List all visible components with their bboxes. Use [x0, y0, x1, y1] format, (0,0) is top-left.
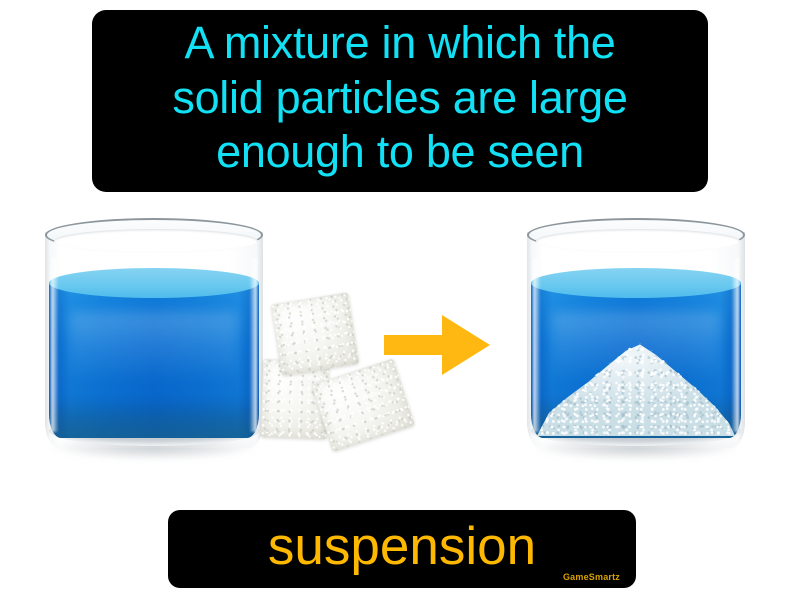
left-liquid-sheen — [70, 312, 238, 381]
left-glass-highlight-left — [51, 258, 58, 432]
right-beaker-rim — [527, 218, 745, 252]
watermark-label: GameSmartz — [563, 572, 620, 582]
right-arrow-icon — [384, 314, 490, 376]
right-glass-highlight-left — [533, 258, 540, 432]
left-beaker-liquid — [49, 268, 259, 438]
right-beaker — [527, 214, 745, 464]
definition-card: A mixture in which the solid particles a… — [0, 0, 800, 600]
left-beaker — [45, 214, 263, 464]
right-beaker-rim-inner — [536, 229, 740, 253]
left-beaker-rim-inner — [54, 229, 258, 253]
definition-text: A mixture in which the solid particles a… — [172, 16, 627, 181]
left-liquid-surface — [49, 268, 259, 298]
settled-solid-particles — [537, 330, 735, 436]
illustration-area — [0, 196, 800, 496]
right-liquid-surface — [531, 268, 741, 298]
left-glass-highlight-right — [250, 258, 257, 432]
sugar-cube-top — [271, 292, 359, 375]
left-liquid-body — [49, 282, 259, 438]
sugar-cube-grain — [271, 292, 359, 375]
term-banner: suspension GameSmartz — [168, 510, 636, 588]
left-beaker-rim — [45, 218, 263, 252]
right-beaker-glass — [527, 232, 745, 448]
left-liquid-deep-shadow — [49, 404, 259, 438]
left-beaker-glass — [45, 232, 263, 448]
sediment-grain-texture — [537, 330, 735, 436]
right-glass-highlight-right — [732, 258, 739, 432]
definition-banner: A mixture in which the solid particles a… — [92, 10, 708, 192]
